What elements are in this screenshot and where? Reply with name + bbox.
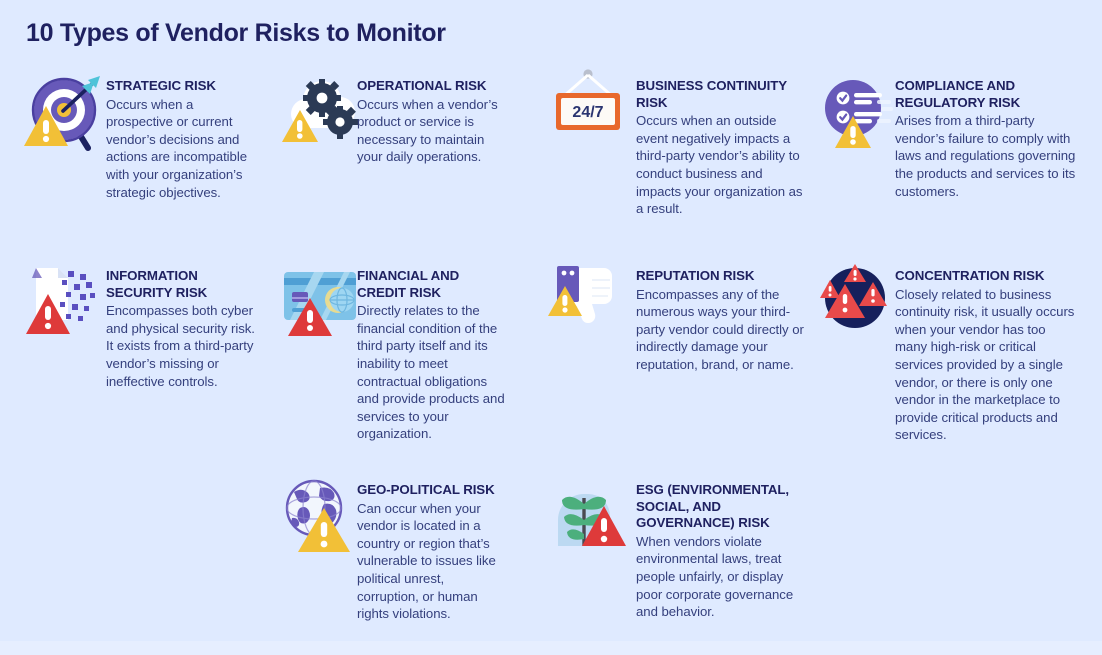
risk-heading: FINANCIAL AND CREDIT RISK xyxy=(357,268,509,301)
risk-body: Occurs when an outside event negatively … xyxy=(636,112,808,218)
risk-heading: BUSINESS CONTINUITY RISK xyxy=(636,78,808,111)
checklist-circle-warning-icon xyxy=(815,70,893,148)
infographic-canvas: 10 Types of Vendor Risks to Monitor xyxy=(0,0,1102,655)
risk-text-reputation-risk: REPUTATION RISK Encompasses any of the n… xyxy=(636,268,808,374)
risk-text-geo-political-risk: GEO-POLITICAL RISK Can occur when your v… xyxy=(357,482,509,623)
risk-text-esg-risk: ESG (ENVIRONMENTAL, SOCIAL, AND GOVERNAN… xyxy=(636,482,808,621)
risk-text-operational-risk: OPERATIONAL RISK Occurs when a vendor’s … xyxy=(357,78,509,166)
risk-body: Occurs when a vendor’s product or servic… xyxy=(357,96,509,166)
risk-text-compliance-and-regulatory-risk: COMPLIANCE AND REGULATORY RISK Arises fr… xyxy=(895,78,1077,200)
head-plant-warning-icon xyxy=(548,474,626,552)
risk-heading: ESG (ENVIRONMENTAL, SOCIAL, AND GOVERNAN… xyxy=(636,482,808,532)
risk-text-business-continuity-risk: BUSINESS CONTINUITY RISK Occurs when an … xyxy=(636,78,808,218)
sign-label: 24/7 xyxy=(572,104,603,121)
risk-heading: STRATEGIC RISK xyxy=(106,78,258,95)
risk-heading: GEO-POLITICAL RISK xyxy=(357,482,509,499)
credit-card-warning-icon xyxy=(280,260,358,338)
risk-body: Occurs when a prospective or current ven… xyxy=(106,96,258,202)
risk-heading: REPUTATION RISK xyxy=(636,268,808,285)
risk-heading: INFORMATION SECURITY RISK xyxy=(106,268,258,301)
risk-body: Arises from a third-party vendor’s failu… xyxy=(895,112,1077,200)
multiple-warnings-circle-icon xyxy=(815,256,893,334)
risk-body: Encompasses any of the numerous ways you… xyxy=(636,286,808,374)
bottom-band xyxy=(0,641,1102,655)
risk-body: Closely related to business continuity r… xyxy=(895,286,1077,444)
risk-heading: COMPLIANCE AND REGULATORY RISK xyxy=(895,78,1077,111)
risk-body: Can occur when your vendor is located in… xyxy=(357,500,509,623)
cloud-gears-warning-icon xyxy=(280,70,358,148)
risk-text-strategic-risk: STRATEGIC RISK Occurs when a prospective… xyxy=(106,78,258,201)
dissolving-document-warning-icon xyxy=(22,260,100,338)
risk-body: Directly relates to the financial condit… xyxy=(357,302,509,443)
page-title: 10 Types of Vendor Risks to Monitor xyxy=(26,19,446,48)
target-arrow-warning-icon xyxy=(22,70,100,148)
risk-heading: OPERATIONAL RISK xyxy=(357,78,509,95)
risk-text-concentration-risk: CONCENTRATION RISK Closely related to bu… xyxy=(895,268,1077,444)
risk-heading: CONCENTRATION RISK xyxy=(895,268,1077,285)
globe-warning-icon xyxy=(280,474,358,552)
risk-body: Encompasses both cyber and physical secu… xyxy=(106,302,258,390)
thumbs-down-warning-icon xyxy=(548,260,626,338)
risk-text-financial-and-credit-risk: FINANCIAL AND CREDIT RISK Directly relat… xyxy=(357,268,509,443)
risk-text-information-security-risk: INFORMATION SECURITY RISK Encompasses bo… xyxy=(106,268,258,390)
risk-body: When vendors violate environmental laws,… xyxy=(636,533,808,621)
hanging-sign-24-7-icon: 24/7 xyxy=(548,60,626,138)
